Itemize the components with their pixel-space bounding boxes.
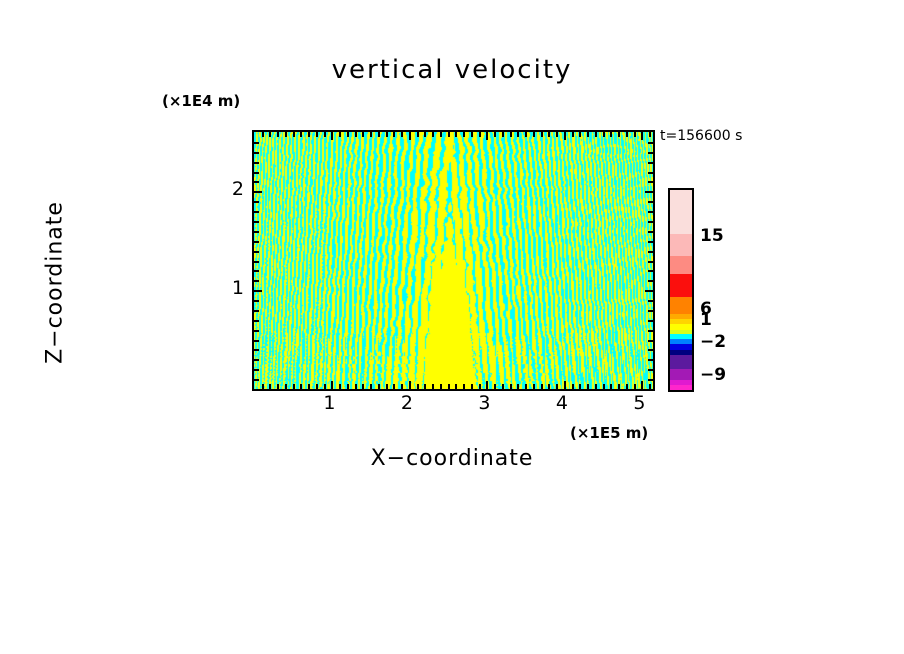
axis-tick bbox=[254, 152, 259, 154]
colorbar-segment bbox=[670, 190, 692, 234]
axis-tick bbox=[649, 384, 651, 389]
axis-tick bbox=[262, 384, 264, 389]
axis-tick bbox=[564, 132, 566, 140]
axis-tick bbox=[401, 132, 403, 137]
axis-tick bbox=[254, 231, 259, 233]
axis-tick bbox=[579, 132, 581, 137]
axis-tick bbox=[393, 384, 395, 389]
axis-tick bbox=[463, 384, 465, 389]
axis-tick bbox=[533, 384, 535, 389]
axis-tick bbox=[471, 384, 473, 389]
axis-tick bbox=[641, 132, 643, 140]
axis-tick bbox=[378, 132, 380, 137]
axis-tick bbox=[254, 330, 259, 332]
axis-tick bbox=[610, 132, 612, 137]
axis-tick bbox=[331, 132, 333, 140]
colorbar-label: −9 bbox=[700, 365, 726, 385]
axis-tick bbox=[517, 384, 519, 389]
axis-tick bbox=[254, 310, 259, 312]
x-tick-label: 5 bbox=[633, 392, 645, 414]
axis-tick bbox=[486, 132, 488, 140]
colorbar-label: 1 bbox=[700, 310, 712, 330]
axis-tick bbox=[648, 221, 653, 223]
axis-tick bbox=[254, 270, 259, 272]
y-axis-label: Z−coordinate bbox=[43, 158, 68, 408]
colorbar bbox=[668, 188, 694, 392]
axis-tick bbox=[463, 132, 465, 137]
axis-tick bbox=[494, 384, 496, 389]
page-title: vertical velocity bbox=[0, 55, 904, 85]
axis-tick bbox=[355, 132, 357, 137]
axis-tick bbox=[648, 261, 653, 263]
axis-tick bbox=[424, 384, 426, 389]
axis-tick bbox=[293, 384, 295, 389]
axis-tick bbox=[548, 132, 550, 137]
axis-tick bbox=[648, 241, 653, 243]
axis-tick bbox=[648, 211, 653, 213]
colorbar-segment bbox=[670, 234, 692, 256]
axis-tick bbox=[300, 384, 302, 389]
axis-tick bbox=[269, 384, 271, 389]
axis-tick bbox=[556, 132, 558, 137]
axis-tick bbox=[494, 132, 496, 137]
colorbar-label: −2 bbox=[700, 332, 726, 352]
axis-tick bbox=[254, 340, 259, 342]
axis-tick bbox=[648, 349, 653, 351]
axis-tick bbox=[355, 384, 357, 389]
axis-tick bbox=[618, 384, 620, 389]
axis-tick bbox=[648, 330, 653, 332]
axis-tick bbox=[455, 132, 457, 137]
axis-tick bbox=[541, 132, 543, 137]
axis-tick bbox=[347, 132, 349, 137]
axis-tick bbox=[293, 132, 295, 137]
axis-tick bbox=[440, 384, 442, 389]
axis-tick bbox=[648, 251, 653, 253]
axis-tick bbox=[308, 132, 310, 137]
axis-tick bbox=[648, 152, 653, 154]
axis-tick bbox=[479, 132, 481, 137]
colorbar-segment bbox=[670, 355, 692, 369]
axis-tick bbox=[626, 384, 628, 389]
axis-tick bbox=[254, 300, 259, 302]
axis-tick bbox=[479, 384, 481, 389]
axis-tick bbox=[339, 384, 341, 389]
axis-tick bbox=[595, 132, 597, 137]
axis-tick bbox=[648, 340, 653, 342]
axis-tick bbox=[603, 384, 605, 389]
axis-tick bbox=[324, 384, 326, 389]
axis-tick bbox=[502, 384, 504, 389]
x-tick-label: 4 bbox=[556, 392, 568, 414]
axis-tick bbox=[254, 379, 259, 381]
axis-tick bbox=[370, 132, 372, 137]
axis-tick bbox=[486, 381, 488, 389]
axis-tick bbox=[648, 369, 653, 371]
axis-tick bbox=[285, 132, 287, 137]
axis-tick bbox=[587, 132, 589, 137]
axis-tick bbox=[455, 384, 457, 389]
axis-tick bbox=[610, 384, 612, 389]
axis-tick bbox=[269, 132, 271, 137]
axis-tick bbox=[648, 320, 653, 322]
axis-tick bbox=[339, 132, 341, 137]
axis-tick bbox=[424, 132, 426, 137]
axis-tick bbox=[254, 241, 259, 243]
axis-tick bbox=[572, 384, 574, 389]
axis-tick bbox=[362, 384, 364, 389]
axis-tick bbox=[316, 132, 318, 137]
axis-tick bbox=[634, 132, 636, 137]
axis-tick bbox=[331, 381, 333, 389]
axis-tick bbox=[393, 132, 395, 137]
axis-tick bbox=[324, 132, 326, 137]
axis-tick bbox=[564, 381, 566, 389]
axis-tick bbox=[634, 384, 636, 389]
axis-tick bbox=[254, 359, 259, 361]
axis-tick bbox=[254, 251, 259, 253]
axis-tick bbox=[254, 201, 259, 203]
x-tick-label: 3 bbox=[478, 392, 490, 414]
axis-tick bbox=[362, 132, 364, 137]
axis-tick bbox=[603, 132, 605, 137]
timestamp-label: t=156600 s bbox=[660, 128, 742, 144]
axis-tick bbox=[378, 384, 380, 389]
axis-tick bbox=[448, 384, 450, 389]
y-tick-label: 2 bbox=[232, 178, 244, 200]
colorbar-segment bbox=[670, 256, 692, 274]
colorbar-segment bbox=[670, 297, 692, 314]
axis-tick bbox=[300, 132, 302, 137]
colorbar-segment bbox=[670, 274, 692, 297]
axis-tick bbox=[254, 320, 259, 322]
colorbar-label: 15 bbox=[700, 226, 724, 246]
axis-tick bbox=[502, 132, 504, 137]
axis-tick bbox=[641, 381, 643, 389]
axis-tick bbox=[648, 359, 653, 361]
axis-tick bbox=[254, 181, 259, 183]
axis-tick bbox=[254, 142, 259, 144]
axis-tick bbox=[517, 132, 519, 137]
axis-tick bbox=[254, 261, 259, 263]
axis-tick bbox=[254, 280, 259, 282]
axis-tick bbox=[254, 221, 259, 223]
axis-tick bbox=[471, 132, 473, 137]
axis-tick bbox=[579, 384, 581, 389]
axis-tick bbox=[316, 384, 318, 389]
axis-tick bbox=[510, 132, 512, 137]
axis-tick bbox=[401, 384, 403, 389]
axis-tick bbox=[432, 384, 434, 389]
axis-tick bbox=[386, 384, 388, 389]
axis-tick bbox=[541, 384, 543, 389]
contour-field-canvas bbox=[254, 132, 653, 389]
axis-tick bbox=[648, 172, 653, 174]
axis-tick bbox=[262, 132, 264, 137]
axis-tick bbox=[440, 132, 442, 137]
axis-tick bbox=[432, 132, 434, 137]
axis-tick bbox=[285, 384, 287, 389]
axis-tick bbox=[409, 381, 411, 389]
axis-tick bbox=[347, 384, 349, 389]
axis-tick bbox=[648, 280, 653, 282]
axis-tick bbox=[417, 132, 419, 137]
axis-tick bbox=[308, 384, 310, 389]
axis-tick bbox=[649, 132, 651, 137]
axis-tick bbox=[618, 132, 620, 137]
axis-tick bbox=[254, 349, 259, 351]
axis-tick bbox=[648, 201, 653, 203]
axis-tick bbox=[587, 384, 589, 389]
x-axis-label: X−coordinate bbox=[0, 446, 904, 471]
axis-tick bbox=[277, 384, 279, 389]
axis-tick bbox=[254, 191, 262, 193]
axis-tick bbox=[277, 132, 279, 137]
axis-tick bbox=[417, 384, 419, 389]
axis-tick bbox=[648, 300, 653, 302]
axis-tick bbox=[254, 172, 259, 174]
axis-tick bbox=[254, 162, 259, 164]
axis-tick bbox=[448, 132, 450, 137]
x-tick-label: 1 bbox=[323, 392, 335, 414]
axis-tick bbox=[533, 132, 535, 137]
axis-tick bbox=[525, 384, 527, 389]
colorbar-segment bbox=[670, 369, 692, 380]
axis-tick bbox=[409, 132, 411, 140]
axis-tick bbox=[645, 191, 653, 193]
x-tick-label: 2 bbox=[401, 392, 413, 414]
contour-plot-area bbox=[252, 130, 655, 391]
axis-tick bbox=[626, 132, 628, 137]
axis-tick bbox=[548, 384, 550, 389]
axis-tick bbox=[254, 290, 262, 292]
axis-tick bbox=[648, 181, 653, 183]
axis-tick bbox=[595, 384, 597, 389]
axis-tick bbox=[370, 384, 372, 389]
axis-tick bbox=[254, 211, 259, 213]
axis-tick bbox=[648, 231, 653, 233]
axis-tick bbox=[254, 369, 259, 371]
axis-tick bbox=[648, 379, 653, 381]
y-tick-label: 1 bbox=[232, 277, 244, 299]
axis-tick bbox=[648, 270, 653, 272]
axis-tick bbox=[525, 132, 527, 137]
axis-tick bbox=[510, 384, 512, 389]
axis-tick bbox=[386, 132, 388, 137]
axis-tick bbox=[572, 132, 574, 137]
axis-tick bbox=[645, 290, 653, 292]
axis-tick bbox=[556, 384, 558, 389]
axis-tick bbox=[648, 310, 653, 312]
x-axis-unit-label: (×1E5 m) bbox=[570, 424, 648, 442]
axis-tick bbox=[648, 142, 653, 144]
y-axis-unit-label: (×1E4 m) bbox=[162, 92, 240, 110]
colorbar-segment bbox=[670, 385, 692, 390]
axis-tick bbox=[648, 162, 653, 164]
